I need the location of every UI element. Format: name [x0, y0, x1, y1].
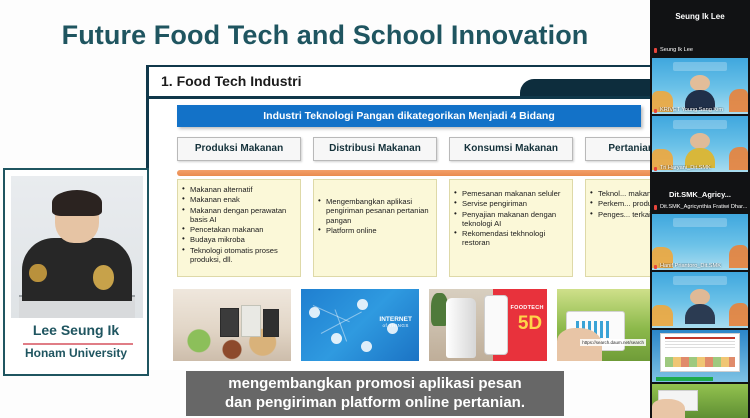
smart-farm-image — [557, 289, 650, 361]
video-call-rail: Seung Ik Lee Seung Ik Lee KRIVET Young S… — [650, 0, 750, 418]
background-decoration-left — [652, 305, 673, 326]
smart-farm-video-tile[interactable] — [652, 384, 748, 418]
caption-line-2: dan pengiriman platform online pertanian… — [192, 393, 558, 412]
participant-tile-agricynthia[interactable]: Hanif Priantoro_Dit.SMK — [652, 214, 748, 270]
shared-doc-footer-bar — [656, 377, 714, 381]
illustration-strip: INTERNET of THINGS FOODTECH 5D — [171, 289, 650, 367]
delivery-app-phone — [484, 295, 508, 355]
virtual-background-banner — [673, 276, 727, 285]
participant-tile-krivet[interactable]: KRIVET Young Sang Kim — [652, 58, 748, 114]
list-item: Teknol... makan... — [590, 189, 650, 198]
shared-document — [660, 333, 741, 371]
iot-node-icon — [309, 307, 320, 318]
jacket-emblem-right — [93, 265, 114, 289]
participant-name-strip-0: Seung Ik Lee — [652, 46, 748, 55]
list-item: Makanan enak — [182, 195, 296, 204]
category-banner: Industri Teknologi Pangan dikategorikan … — [177, 105, 641, 127]
list-item: Platform online — [318, 226, 432, 235]
subtitle-caption: mengembangkan promosi aplikasi pesan dan… — [186, 371, 564, 416]
participant-figure — [685, 289, 716, 324]
bullet-card-konsumsi: Pemesanan makanan seluler Servise pengir… — [449, 179, 573, 277]
list-item: Servise pengiriman — [454, 199, 568, 208]
orange-connector-band — [177, 170, 650, 176]
shared-doc-header — [665, 337, 734, 339]
bullet-card-pertanian: Teknol... makan... Perkem... produk... P… — [585, 179, 650, 277]
iot-label: INTERNET of THINGS — [379, 316, 412, 328]
food-package — [220, 308, 239, 337]
list-item: Makanan alternatif — [182, 185, 296, 194]
list-item: Teknologi otomatis proses produksi, dll. — [182, 246, 296, 265]
hand-holding-tablet — [652, 399, 685, 418]
list-item: Pemesanan makanan seluler — [454, 189, 568, 198]
screen-share-preview-tile[interactable] — [652, 330, 748, 382]
list-item: Budaya mikroba — [182, 235, 296, 244]
serving-robot — [446, 298, 477, 358]
virtual-background-banner — [673, 120, 727, 129]
participant-figure — [685, 133, 716, 168]
food-photo-image — [173, 289, 291, 361]
heading-divider — [149, 96, 650, 99]
list-item: Rekomendasi tekhnologi restoran — [454, 229, 568, 248]
photo-internet-of-things: INTERNET of THINGS — [301, 289, 419, 361]
section-heading: 1. Food Tech Industri — [161, 73, 302, 89]
speaker-hair — [52, 190, 102, 216]
category-chip-produksi: Produksi Makanan — [177, 137, 301, 161]
slide-content-frame: 1. Food Tech Industri Industri Teknologi… — [146, 65, 650, 370]
participant-face — [690, 289, 710, 305]
participant-tile-hanif[interactable] — [652, 272, 748, 328]
page-title: Future Food Tech and School Innovation — [0, 20, 650, 51]
participant-tile-tri-haryani[interactable]: Tri Haryani_Dit.SMK — [652, 116, 748, 172]
participant-name: Hanif Priantoro_Dit.SMK — [654, 263, 746, 269]
participant-name-strip-4: Dit.SMK_Agricynthia Fratiwi Dhar... — [652, 203, 748, 212]
list-item: Perkem... produk... — [590, 199, 650, 208]
background-decoration-right — [729, 303, 748, 325]
photo-alternative-food — [173, 289, 291, 361]
caption-line-1: mengembangkan promosi aplikasi pesan — [192, 374, 558, 393]
list-item: Penges... terkait... keras d... — [590, 210, 650, 219]
speaker-name: Lee Seung Ik — [5, 322, 147, 338]
category-chip-row: Produksi Makanan Distribusi Makanan Kons… — [177, 137, 650, 161]
participant-name: Tri Haryani_Dit.SMK — [654, 165, 746, 171]
participant-face — [690, 133, 710, 149]
list-item: Pencetakan makanan — [182, 225, 296, 234]
speaker-card: Lee Seung Ik Honam University — [3, 168, 149, 376]
bullet-card-distribusi: Mengembangkan aplikasi pengiriman pesana… — [313, 179, 437, 277]
foodtech-label: FOODTECH — [510, 305, 543, 311]
category-chip-konsumsi: Konsumsi Makanan — [449, 137, 573, 161]
robot-app-image: FOODTECH 5D — [429, 289, 547, 361]
shared-doc-thumbnails — [665, 357, 734, 366]
participant-label-agricy: Dit.SMK_Agricy... — [650, 190, 750, 199]
speaker-video-thumbnail — [11, 176, 143, 318]
screenshot-root: Future Food Tech and School Innovation 1… — [0, 0, 750, 418]
photo-serving-robot-app: FOODTECH 5D — [429, 289, 547, 361]
iot-node-icon — [331, 333, 342, 344]
bullet-card-produksi: Makanan alternatif Makanan enak Makanan … — [177, 179, 301, 277]
participant-name: KRIVET Young Sang Kim — [654, 107, 746, 113]
category-chip-pertanian: Pertanian dan ... — [585, 137, 650, 161]
active-speaker-label: Seung Ik Lee — [650, 12, 750, 21]
participant-face — [690, 75, 710, 91]
iot-home-icon — [357, 299, 368, 310]
food-package — [263, 309, 280, 336]
speaker-name-underline — [23, 343, 133, 345]
foodtech-poster: FOODTECH 5D — [493, 289, 547, 361]
bullet-card-row: Makanan alternatif Makanan enak Makanan … — [177, 179, 650, 277]
category-chip-distribusi: Distribusi Makanan — [313, 137, 437, 161]
participant-figure — [685, 75, 716, 110]
virtual-background-banner — [673, 218, 727, 227]
virtual-background-banner — [673, 62, 727, 71]
speaker-organization: Honam University — [5, 346, 147, 360]
list-item: Makanan dengan perawatan basis AI — [182, 206, 296, 225]
iot-graphic-image: INTERNET of THINGS — [301, 289, 419, 361]
photo-smart-farm — [557, 289, 650, 361]
list-item: Mengembangkan aplikasi pengiriman pesana… — [318, 197, 432, 225]
iot-phone-icon — [361, 341, 372, 352]
food-package — [241, 305, 261, 337]
jacket-emblem-left — [29, 264, 46, 282]
source-url-text: https://search.daum.net/search — [580, 339, 646, 346]
foodtech-big-number: 5D — [518, 315, 542, 332]
participant-body — [685, 304, 716, 323]
list-item: Penyajian makanan dengan teknologi AI — [454, 210, 568, 229]
